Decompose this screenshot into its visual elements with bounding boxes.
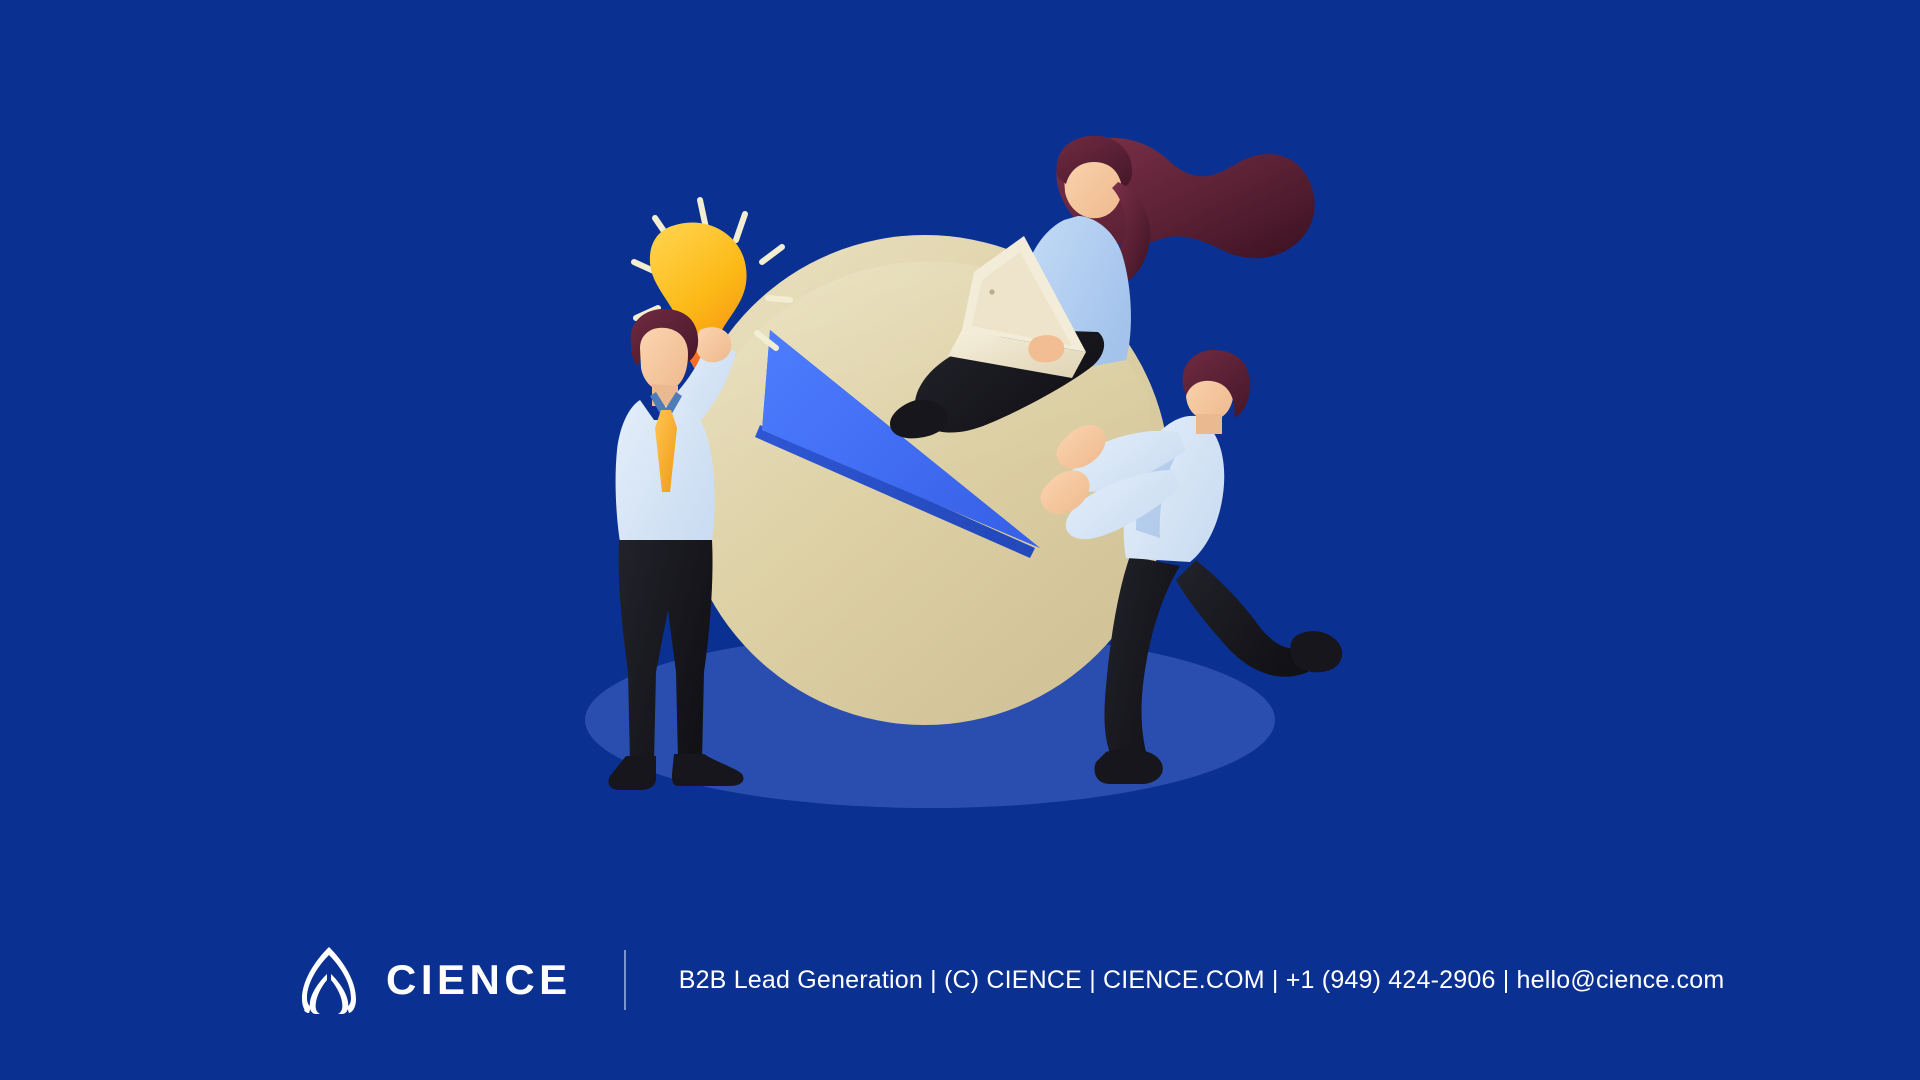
man-left-shoe-left — [608, 756, 656, 790]
cience-wordmark: CIENCE — [386, 959, 572, 1001]
marketing-banner: CIENCE B2B Lead Generation | (C) CIENCE … — [0, 0, 1920, 1080]
man-right-back-shoe — [1290, 631, 1342, 672]
footer-bar: CIENCE B2B Lead Generation | (C) CIENCE … — [0, 880, 1920, 1080]
footer-divider — [624, 950, 626, 1010]
footer-tagline: B2B Lead Generation | (C) CIENCE | CIENC… — [679, 966, 1725, 995]
man-right-back-leg — [1176, 560, 1308, 677]
laptop-camera-dot — [989, 289, 994, 294]
man-right-neck — [1196, 414, 1222, 434]
woman-hand-keyboard — [1028, 335, 1064, 362]
cience-arch-logo-icon — [298, 944, 360, 1016]
man-left-hand — [696, 327, 731, 362]
brand-lockup[interactable]: CIENCE — [298, 944, 572, 1016]
hero-illustration — [0, 0, 1920, 880]
man-left-face — [640, 328, 688, 391]
